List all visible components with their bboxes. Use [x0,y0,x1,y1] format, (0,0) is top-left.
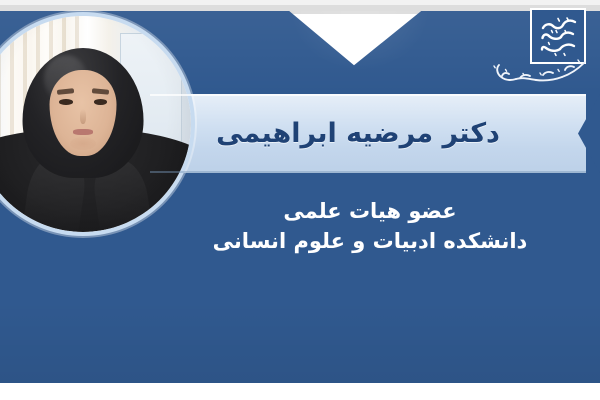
university-logo: دانشگاه شهید بهشتی [482,6,592,86]
profile-card: دکتر مرضیه ابراهیمی عضو هیات علمی دانشکد… [0,0,600,400]
person-name: دکتر مرضیه ابراهیمی [150,94,566,173]
subtitle-faculty: دانشکده ادبیات و علوم انسانی [170,226,570,256]
top-background-highlight [0,0,600,5]
subtitle-role: عضو هیات علمی [170,196,570,226]
public-relations-wordmark-icon: روابط عمومی [486,54,590,88]
bottom-background-strip [0,383,600,400]
subtitle-block: عضو هیات علمی دانشکده ادبیات و علوم انسا… [170,196,570,257]
